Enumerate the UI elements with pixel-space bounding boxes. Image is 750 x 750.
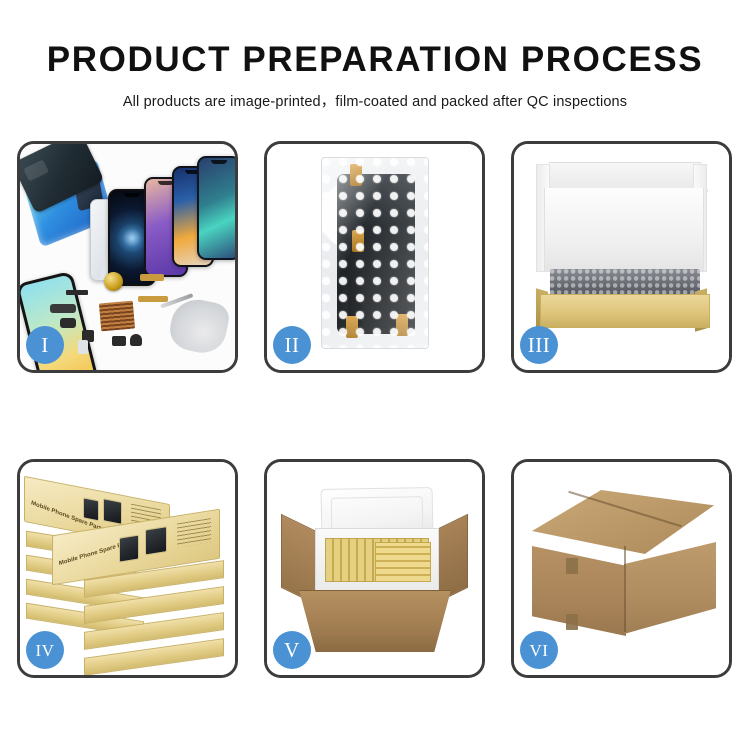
step-badge-4: IV xyxy=(26,631,64,669)
step-badge-6: VI xyxy=(520,631,558,669)
step-badge-5: V xyxy=(273,631,311,669)
carton-side-face xyxy=(624,542,716,634)
box-spec-lines-2 xyxy=(177,518,211,547)
process-step-panel-6[interactable]: VI xyxy=(511,459,732,678)
process-step-panel-3[interactable]: III xyxy=(511,141,732,373)
box-window-2b xyxy=(145,526,167,555)
box-kraft-front-panel xyxy=(540,294,710,328)
process-step-panel-2[interactable]: II xyxy=(264,141,485,373)
bubble-wrap-bag xyxy=(321,157,429,349)
plastic-sheen xyxy=(322,158,428,348)
carton-front-face xyxy=(532,546,626,636)
phone-display-teal xyxy=(197,156,235,260)
page-subtitle: All products are image-printed，film-coat… xyxy=(0,90,750,111)
process-step-panel-5[interactable]: V xyxy=(264,459,485,678)
carton-top-face xyxy=(532,490,714,554)
flex-cable-part-a xyxy=(140,274,164,281)
repair-tool-hand xyxy=(166,295,232,358)
sim-tray-part xyxy=(78,340,88,354)
box-window-1a xyxy=(83,497,99,521)
process-step-grid: I II xyxy=(17,141,733,678)
carton-corner-edge xyxy=(624,546,626,632)
box-window-2a xyxy=(119,535,139,563)
packed-boxes-row-b xyxy=(375,542,431,582)
earpiece-mesh-part xyxy=(66,290,88,295)
page-title: PRODUCT PREPARATION PROCESS xyxy=(0,42,750,79)
box-inner-white-foam xyxy=(544,188,704,272)
page-header: PRODUCT PREPARATION PROCESS All products… xyxy=(0,0,750,111)
process-step-panel-1[interactable]: I xyxy=(17,141,238,373)
antenna-cable-part xyxy=(50,304,76,313)
vibration-motor-part xyxy=(104,272,123,291)
box-window-1b xyxy=(103,498,122,525)
step-badge-3: III xyxy=(520,326,558,364)
camera-module-part xyxy=(60,318,76,328)
flex-cable-part-b xyxy=(138,296,168,302)
carton-body xyxy=(299,590,451,652)
product-preparation-page: PRODUCT PREPARATION PROCESS All products… xyxy=(0,0,750,750)
step-badge-1: I xyxy=(26,326,64,364)
screw-tray-part xyxy=(99,301,135,332)
speaker-part xyxy=(130,334,142,346)
carton-tape-lower xyxy=(566,614,578,630)
process-step-panel-4[interactable]: Mobile Phone Spare Parts Mobile Phone Sp… xyxy=(17,459,238,678)
button-part xyxy=(112,336,126,346)
step-badge-2: II xyxy=(273,326,311,364)
carton-tape-upper xyxy=(566,558,578,574)
